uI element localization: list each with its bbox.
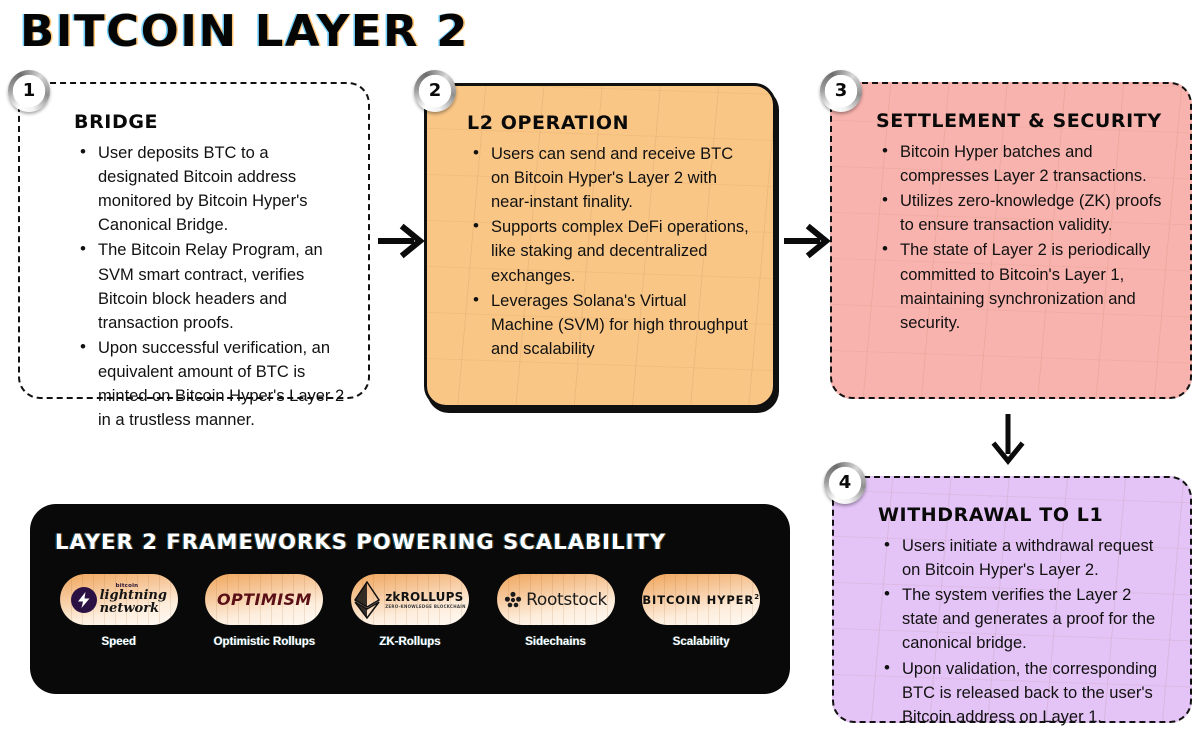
list-item: The state of Layer 2 is periodically com… (880, 238, 1168, 334)
list-item: Users can send and receive BTC on Bitcoi… (471, 142, 751, 214)
framework-logo-pill: BITCOIN HYPER2 (642, 574, 760, 625)
step-card-title: WITHDRAWAL TO L1 (864, 504, 1168, 527)
zkrollups-logo: zkROLLUPS ZERO-KNOWLEDGE BLOCKCHAIN (354, 581, 466, 619)
bitcoin-hyper-logo: BITCOIN HYPER2 (642, 593, 760, 607)
bitcoin-hyper-text: BITCOIN HYPER (642, 593, 754, 607)
step-bullet-list: Bitcoin Hyper batches and compresses Lay… (862, 140, 1168, 335)
framework-list: bitcoin lightning network Speed OPTIMISM… (30, 574, 790, 648)
step-bullet-list: User deposits BTC to a designated Bitcoi… (60, 141, 346, 432)
frameworks-title: LAYER 2 FRAMEWORKS POWERING SCALABILITY (30, 530, 790, 554)
list-item: The system verifies the Layer 2 state an… (882, 583, 1168, 655)
lightning-network-logo: bitcoin lightning network (71, 584, 167, 616)
lightning-bolt-icon (71, 587, 97, 613)
framework-caption: ZK-Rollups (379, 636, 440, 648)
list-item: Supports complex DeFi operations, like s… (471, 215, 751, 287)
framework-item-scalability[interactable]: BITCOIN HYPER2 Scalability (637, 574, 765, 648)
framework-caption: Scalability (673, 636, 730, 648)
list-item: Bitcoin Hyper batches and compresses Lay… (880, 140, 1168, 188)
logo-line-2: network (100, 601, 159, 616)
list-item: Users initiate a withdrawal request on B… (882, 534, 1168, 582)
framework-logo-pill: OPTIMISM (205, 574, 323, 625)
step-bullet-list: Users can send and receive BTC on Bitcoi… (453, 142, 751, 361)
zkrollups-wordmark: zkROLLUPS ZERO-KNOWLEDGE BLOCKCHAIN (385, 591, 466, 609)
rootstock-wordmark: Rootstock (526, 590, 607, 610)
step-number-label: 4 (839, 474, 852, 492)
bitcoin-hyper-sup: 2 (754, 593, 760, 601)
framework-item-speed[interactable]: bitcoin lightning network Speed (55, 574, 183, 648)
framework-item-sidechains[interactable]: Rootstock Sidechains (492, 574, 620, 648)
step-number-label: 3 (835, 82, 848, 100)
arrow-down-icon (988, 412, 1028, 471)
frameworks-panel: LAYER 2 FRAMEWORKS POWERING SCALABILITY … (30, 504, 790, 694)
step-card-l2-operation: L2 OPERATION Users can send and receive … (424, 83, 776, 408)
step-card-bridge: BRIDGE User deposits BTC to a designated… (18, 82, 370, 399)
rootstock-logo: Rootstock (504, 590, 607, 610)
list-item: Upon validation, the corresponding BTC i… (882, 657, 1168, 729)
bitcoin-hyper-wordmark: BITCOIN HYPER2 (642, 593, 760, 607)
page-title: BITCOIN LAYER 2 (20, 6, 469, 57)
arrow-right-icon-2 (782, 222, 830, 265)
framework-caption: Optimistic Rollups (214, 636, 316, 648)
step-card-settlement-security: SETTLEMENT & SECURITY Bitcoin Hyper batc… (830, 82, 1192, 399)
step-card-title: L2 OPERATION (453, 112, 751, 135)
rootstock-mark-icon (504, 591, 522, 609)
step-number-badge-2: 2 (414, 70, 456, 112)
list-item: Utilizes zero-knowledge (ZK) proofs to e… (880, 189, 1168, 237)
lightning-network-wordmark: bitcoin lightning network (100, 584, 167, 616)
framework-caption: Sidechains (525, 636, 586, 648)
step-card-withdrawal-to-l1: WITHDRAWAL TO L1 Users initiate a withdr… (832, 476, 1192, 723)
framework-logo-pill: zkROLLUPS ZERO-KNOWLEDGE BLOCKCHAIN (351, 574, 469, 625)
framework-item-zk-rollups[interactable]: zkROLLUPS ZERO-KNOWLEDGE BLOCKCHAIN ZK-R… (346, 574, 474, 648)
list-item: Upon successful verification, an equival… (78, 336, 346, 432)
step-number-label: 1 (23, 82, 36, 100)
list-item: Leverages Solana's Virtual Machine (SVM)… (471, 289, 751, 361)
step-card-title: SETTLEMENT & SECURITY (862, 110, 1168, 133)
step-number-badge-4: 4 (824, 462, 866, 504)
ethereum-diamond-icon (354, 581, 380, 619)
arrow-right-icon-1 (376, 222, 424, 265)
step-bullet-list: Users initiate a withdrawal request on B… (864, 534, 1168, 729)
list-item: User deposits BTC to a designated Bitcoi… (78, 141, 346, 237)
framework-item-optimistic-rollups[interactable]: OPTIMISM Optimistic Rollups (200, 574, 328, 648)
step-number-badge-3: 3 (820, 70, 862, 112)
framework-logo-pill: bitcoin lightning network (60, 574, 178, 625)
zkrollups-sub-text: ZERO-KNOWLEDGE BLOCKCHAIN (385, 605, 466, 609)
framework-logo-pill: Rootstock (497, 574, 615, 625)
step-number-badge-1: 1 (8, 70, 50, 112)
list-item: The Bitcoin Relay Program, an SVM smart … (78, 238, 346, 334)
optimism-logo: OPTIMISM (217, 590, 312, 609)
zkrollups-main-text: zkROLLUPS (385, 591, 466, 603)
step-card-title: BRIDGE (60, 111, 346, 134)
framework-caption: Speed (102, 636, 137, 648)
step-number-label: 2 (429, 82, 442, 100)
optimism-wordmark: OPTIMISM (217, 590, 312, 609)
